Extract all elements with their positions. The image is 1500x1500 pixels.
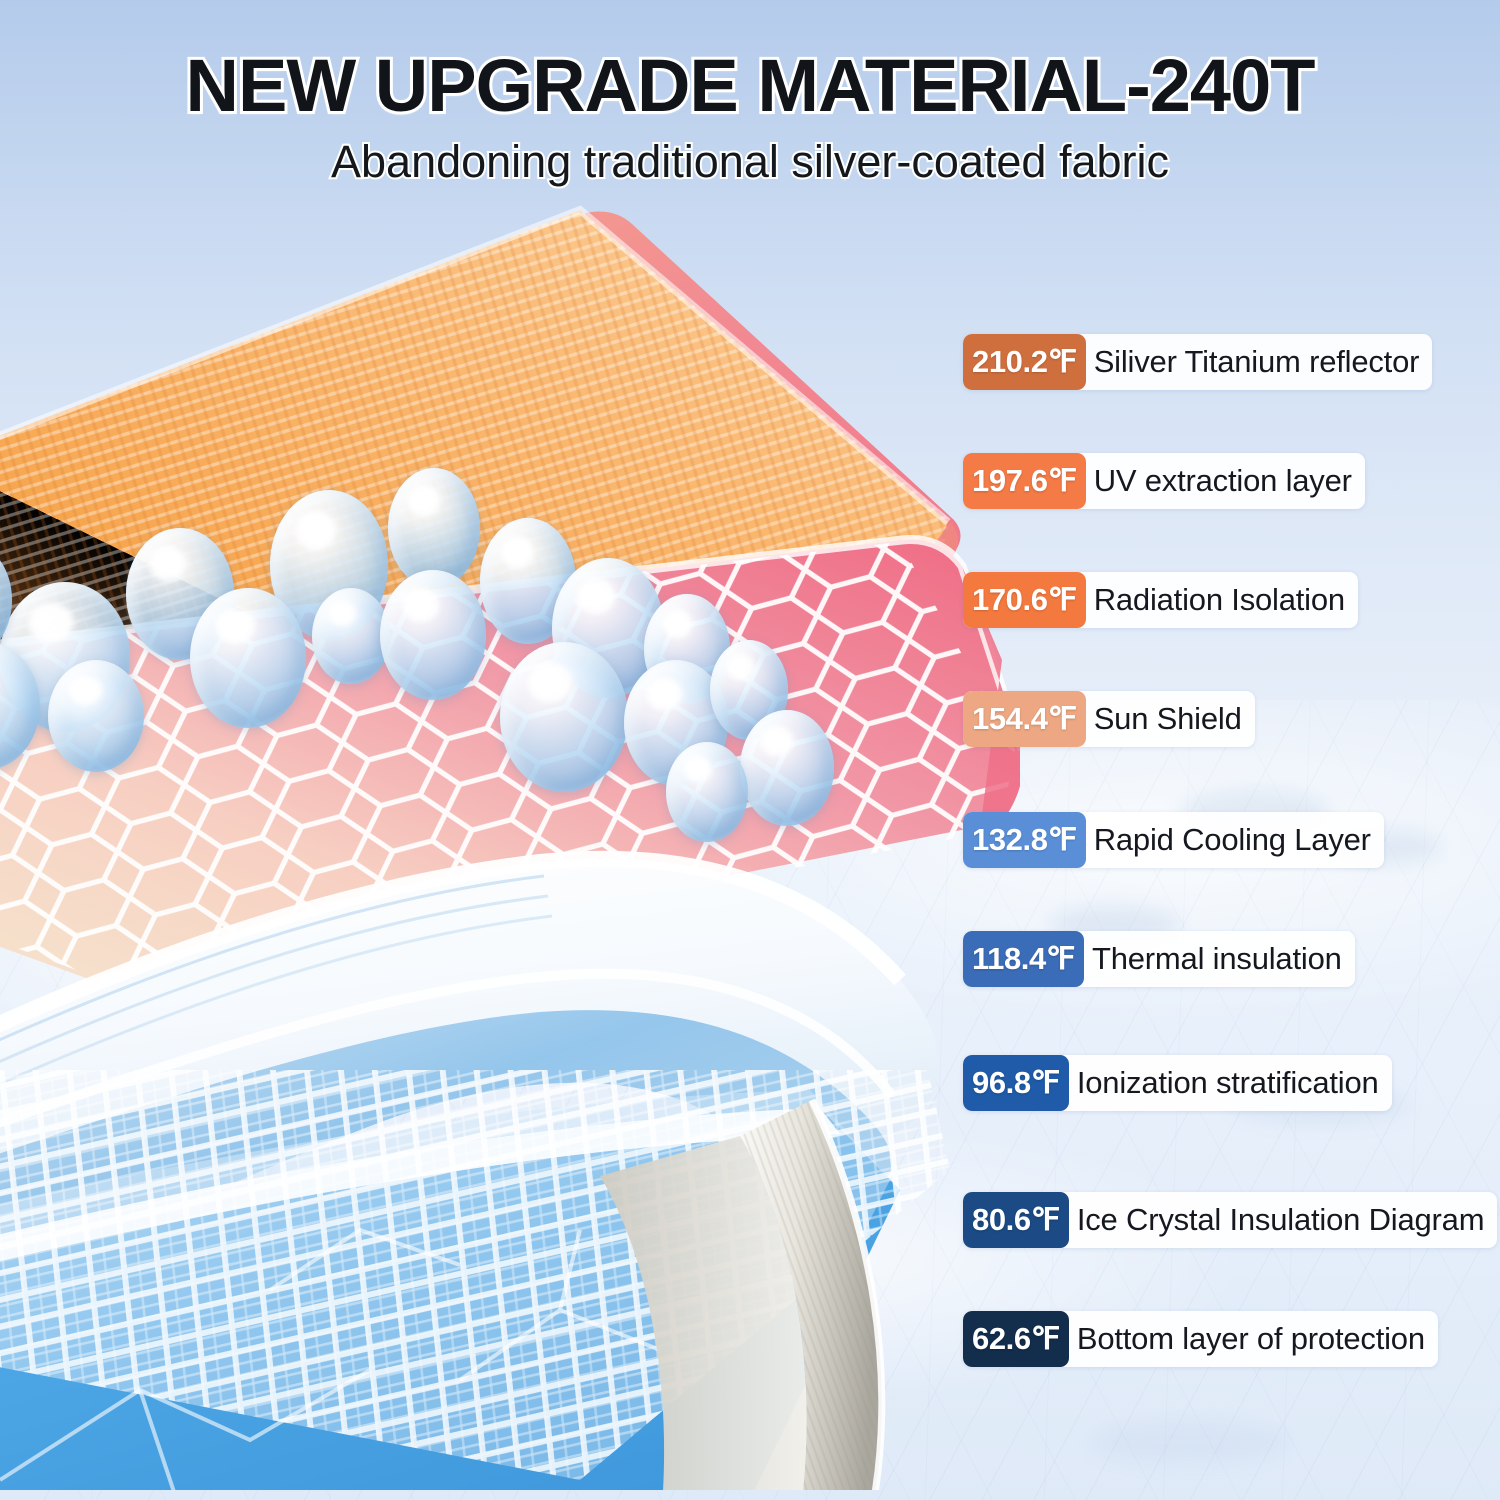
- frost-blob: [1090, 1420, 1290, 1464]
- page-title: NEW UPGRADE MATERIAL-240T: [0, 48, 1500, 124]
- legend-pill[interactable]: 62.6℉ Bottom layer of protection: [963, 1311, 1438, 1367]
- layer-label: Radiation Isolation: [1086, 582, 1358, 618]
- legend-row[interactable]: 132.8℉ Rapid Cooling Layer: [963, 812, 1384, 868]
- cooling-bead: [624, 660, 728, 786]
- layer-label: Siliver Titanium reflector: [1086, 344, 1433, 380]
- cooling-bead: [666, 742, 748, 842]
- layer-label: Ice Crystal Insulation Diagram: [1069, 1202, 1498, 1238]
- legend-row[interactable]: 210.2℉ Siliver Titanium reflector: [963, 334, 1432, 390]
- temperature-badge: 62.6℉: [963, 1311, 1069, 1367]
- fabric-cross-section-svg: [0, 190, 1020, 1490]
- cooling-bead: [552, 558, 664, 698]
- cooling-bead: [0, 642, 40, 770]
- temperature-badge: 132.8℉: [963, 812, 1086, 868]
- cooling-bead: [388, 468, 480, 588]
- cooling-bead: [644, 594, 730, 704]
- cooling-bead: [710, 640, 788, 740]
- cooling-bead: [500, 642, 628, 792]
- header-block: NEW UPGRADE MATERIAL-240T Abandoning tra…: [0, 48, 1500, 188]
- temperature-badge: 197.6℉: [963, 453, 1086, 509]
- temperature-badge: 170.6℉: [963, 572, 1086, 628]
- cooling-bead-cluster: [0, 190, 1020, 1490]
- honeycomb-isolation-layer: [0, 490, 1020, 1050]
- legend-pill[interactable]: 154.4℉ Sun Shield: [963, 691, 1255, 747]
- temperature-badge: 118.4℉: [963, 931, 1084, 987]
- legend-pill[interactable]: 96.8℉ Ionization stratification: [963, 1055, 1392, 1111]
- legend-pill[interactable]: 170.6℉ Radiation Isolation: [963, 572, 1358, 628]
- legend-row[interactable]: 96.8℉ Ionization stratification: [963, 1055, 1392, 1111]
- legend-row[interactable]: 118.4℉ Thermal insulation: [963, 931, 1355, 987]
- temperature-badge: 210.2℉: [963, 334, 1086, 390]
- cooling-bead: [0, 540, 12, 660]
- layer-label: Sun Shield: [1086, 701, 1255, 737]
- legend-pill[interactable]: 197.6℉ UV extraction layer: [963, 453, 1365, 509]
- temperature-badge: 80.6℉: [963, 1192, 1069, 1248]
- cooling-bead: [126, 528, 234, 660]
- legend-row[interactable]: 170.6℉ Radiation Isolation: [963, 572, 1358, 628]
- legend-row[interactable]: 80.6℉ Ice Crystal Insulation Diagram: [963, 1192, 1497, 1248]
- silver-bottom-binding: [600, 1100, 882, 1490]
- cooling-bead: [740, 710, 834, 826]
- cooling-bead: [380, 570, 486, 700]
- legend-row[interactable]: 197.6℉ UV extraction layer: [963, 453, 1365, 509]
- layered-fabric-illustration: [0, 190, 1020, 1490]
- legend-row[interactable]: 62.6℉ Bottom layer of protection: [963, 1311, 1438, 1367]
- legend-pill[interactable]: 132.8℉ Rapid Cooling Layer: [963, 812, 1384, 868]
- cooling-bead: [190, 588, 306, 728]
- layer-label: Rapid Cooling Layer: [1086, 822, 1384, 858]
- layer-label: Thermal insulation: [1084, 941, 1355, 977]
- cooling-bead: [270, 490, 388, 640]
- cooling-bead: [0, 582, 130, 732]
- layer-label: Bottom layer of protection: [1069, 1321, 1438, 1357]
- temperature-badge: 154.4℉: [963, 691, 1086, 747]
- infographic-poster: NEW UPGRADE MATERIAL-240T Abandoning tra…: [0, 0, 1500, 1500]
- cooling-bead: [312, 588, 390, 684]
- legend-row[interactable]: 154.4℉ Sun Shield: [963, 691, 1255, 747]
- cooling-bead: [48, 660, 144, 772]
- cooling-bead: [480, 518, 576, 644]
- white-ribbed-sheet: [0, 859, 939, 1350]
- legend-pill[interactable]: 118.4℉ Thermal insulation: [963, 931, 1355, 987]
- legend-pill[interactable]: 210.2℉ Siliver Titanium reflector: [963, 334, 1432, 390]
- orange-reflector-layer: [0, 190, 1020, 810]
- temperature-badge: 96.8℉: [963, 1055, 1069, 1111]
- legend-pill[interactable]: 80.6℉ Ice Crystal Insulation Diagram: [963, 1192, 1497, 1248]
- layer-label: UV extraction layer: [1086, 463, 1365, 499]
- mesh-and-ice-core: [0, 1070, 1020, 1490]
- page-subtitle: Abandoning traditional silver-coated fab…: [0, 136, 1500, 188]
- layer-label: Ionization stratification: [1069, 1065, 1392, 1101]
